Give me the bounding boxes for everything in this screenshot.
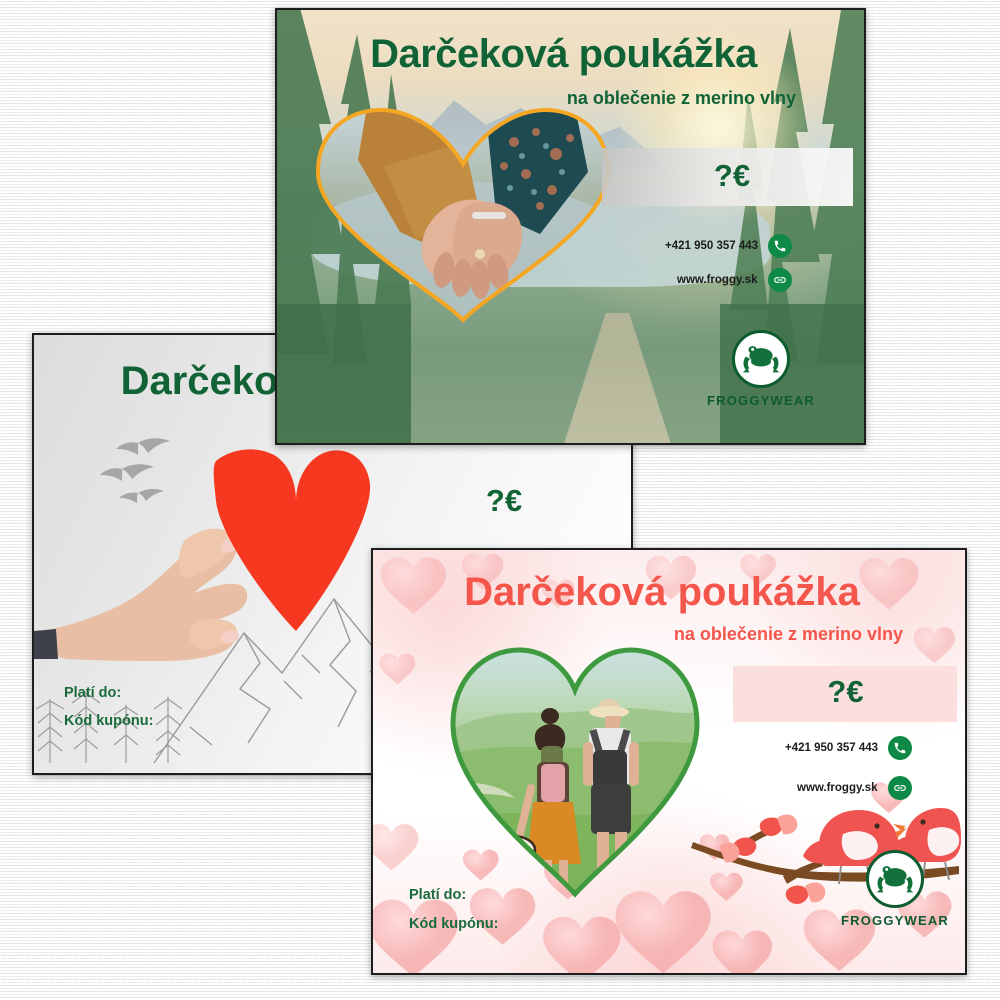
terms-block: Platí do: Kód kupónu:	[64, 685, 153, 741]
phone-row[interactable]: +421 950 357 443	[665, 234, 792, 258]
card-title: Darčeková poukážka	[373, 570, 951, 615]
website-url: www.froggy.sk	[677, 274, 758, 286]
brand-name: FROGGYWEAR	[835, 913, 955, 928]
phone-number: +421 950 357 443	[785, 742, 878, 754]
voucher-card-hearts[interactable]: Darčeková poukážka na oblečenie z merino…	[371, 548, 967, 975]
coupon-code-label: Kód kupónu:	[64, 713, 153, 729]
card-title: Darčeková poukážka	[277, 32, 850, 77]
frog-icon	[732, 330, 790, 388]
price-value: ?€	[773, 674, 918, 710]
phone-row[interactable]: +421 950 357 443	[785, 736, 912, 760]
voucher-card-nature[interactable]: Darčeková poukážka na oblečenie z merino…	[275, 8, 866, 445]
brand-name: FROGGYWEAR	[701, 393, 821, 408]
phone-number: +421 950 357 443	[665, 240, 758, 252]
brand-logo[interactable]: FROGGYWEAR	[835, 850, 955, 928]
price-value: ?€	[652, 158, 812, 194]
link-icon[interactable]	[768, 268, 792, 292]
holding-hands-heart-photo	[304, 102, 622, 324]
phone-icon[interactable]	[768, 234, 792, 258]
frog-icon	[866, 850, 924, 908]
valid-until-label: Platí do:	[409, 887, 498, 903]
phone-icon[interactable]	[888, 736, 912, 760]
card-subtitle: na oblečenie z merino vlny	[674, 624, 903, 645]
brand-logo[interactable]: FROGGYWEAR	[701, 330, 821, 408]
website-row[interactable]: www.froggy.sk	[797, 776, 912, 800]
website-url: www.froggy.sk	[797, 782, 878, 794]
valid-until-label: Platí do:	[64, 685, 153, 701]
website-row[interactable]: www.froggy.sk	[677, 268, 792, 292]
terms-block: Platí do: Kód kupónu:	[409, 887, 498, 945]
link-icon[interactable]	[888, 776, 912, 800]
hikers-heart-photo	[445, 638, 705, 900]
price-value: ?€	[434, 483, 574, 519]
coupon-code-label: Kód kupónu:	[409, 916, 498, 932]
